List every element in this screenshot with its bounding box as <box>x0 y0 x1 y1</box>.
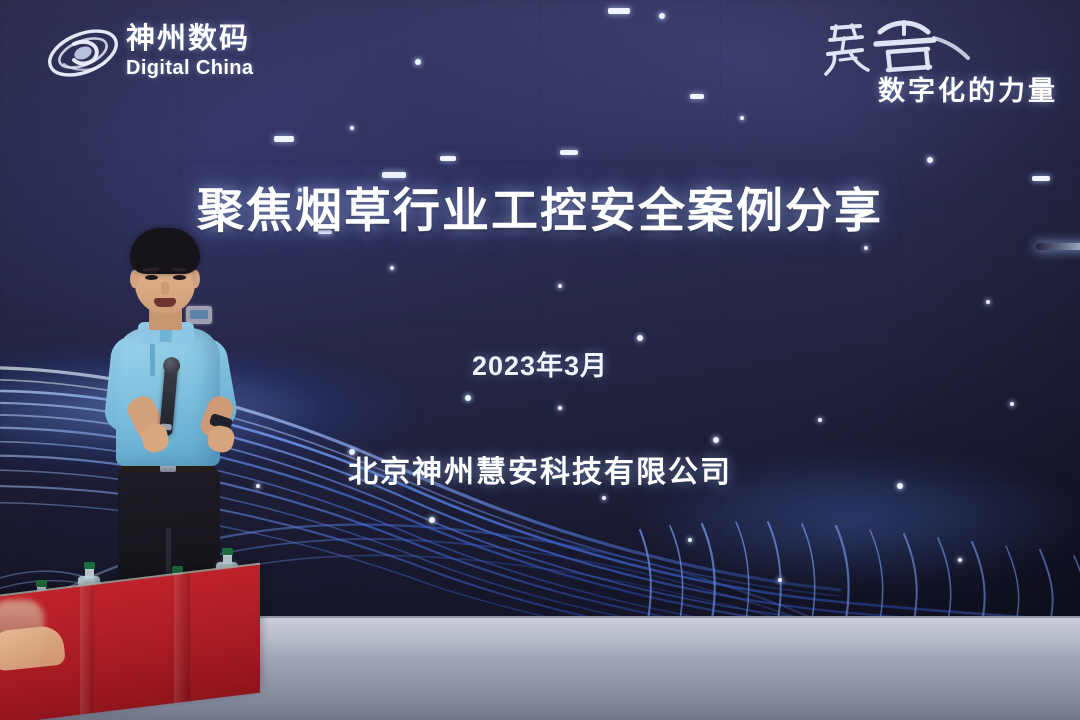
speaker-chest-logo-icon <box>186 306 212 324</box>
speaker-nose <box>161 281 169 295</box>
digital-china-swirl-icon <box>44 24 122 82</box>
speaker-hair <box>130 228 200 274</box>
speaker-right-eye <box>173 275 186 280</box>
particle-dash <box>440 156 456 161</box>
digital-china-logo: 神州数码 Digital China <box>44 22 274 88</box>
particle-dot <box>927 157 933 163</box>
tablecloth-fold <box>174 573 190 703</box>
particle-dash <box>608 8 630 14</box>
particle-dot <box>864 246 868 250</box>
particle-dot <box>986 300 990 304</box>
speaker-right-ear <box>191 270 200 288</box>
particle-dash <box>382 172 406 178</box>
particle-dot <box>350 126 354 130</box>
particle-dot <box>740 116 744 120</box>
juhe-brush-calligraphy-icon <box>822 18 972 80</box>
speaker-left-eye <box>145 275 158 280</box>
brand-english-name: Digital China <box>126 56 276 81</box>
event-tagline: 数字化的力量 <box>836 72 1058 110</box>
particle-dot <box>390 266 394 270</box>
particle-dot <box>558 284 562 288</box>
light-streak-icon <box>1036 243 1080 250</box>
event-logo: 数字化的力量 <box>798 18 1058 114</box>
speaker-mouth <box>154 298 176 307</box>
digital-china-wordmark: 神州数码 Digital China <box>126 22 276 81</box>
particle-dash <box>560 150 578 155</box>
stage-photo-scene: 聚焦烟草行业工控安全案例分享 2023年3月 北京神州慧安科技有限公司 神州数码 <box>0 0 1080 720</box>
attendee-hands <box>0 624 66 671</box>
particle-dot <box>659 13 665 19</box>
tablecloth-fold <box>80 585 94 715</box>
particle-dash <box>274 136 294 142</box>
speaker-left-ear <box>130 270 139 288</box>
speaker-figure <box>92 228 272 620</box>
particle-dot <box>415 59 421 65</box>
brand-chinese-name: 神州数码 <box>126 22 276 56</box>
particle-dash <box>690 94 704 99</box>
